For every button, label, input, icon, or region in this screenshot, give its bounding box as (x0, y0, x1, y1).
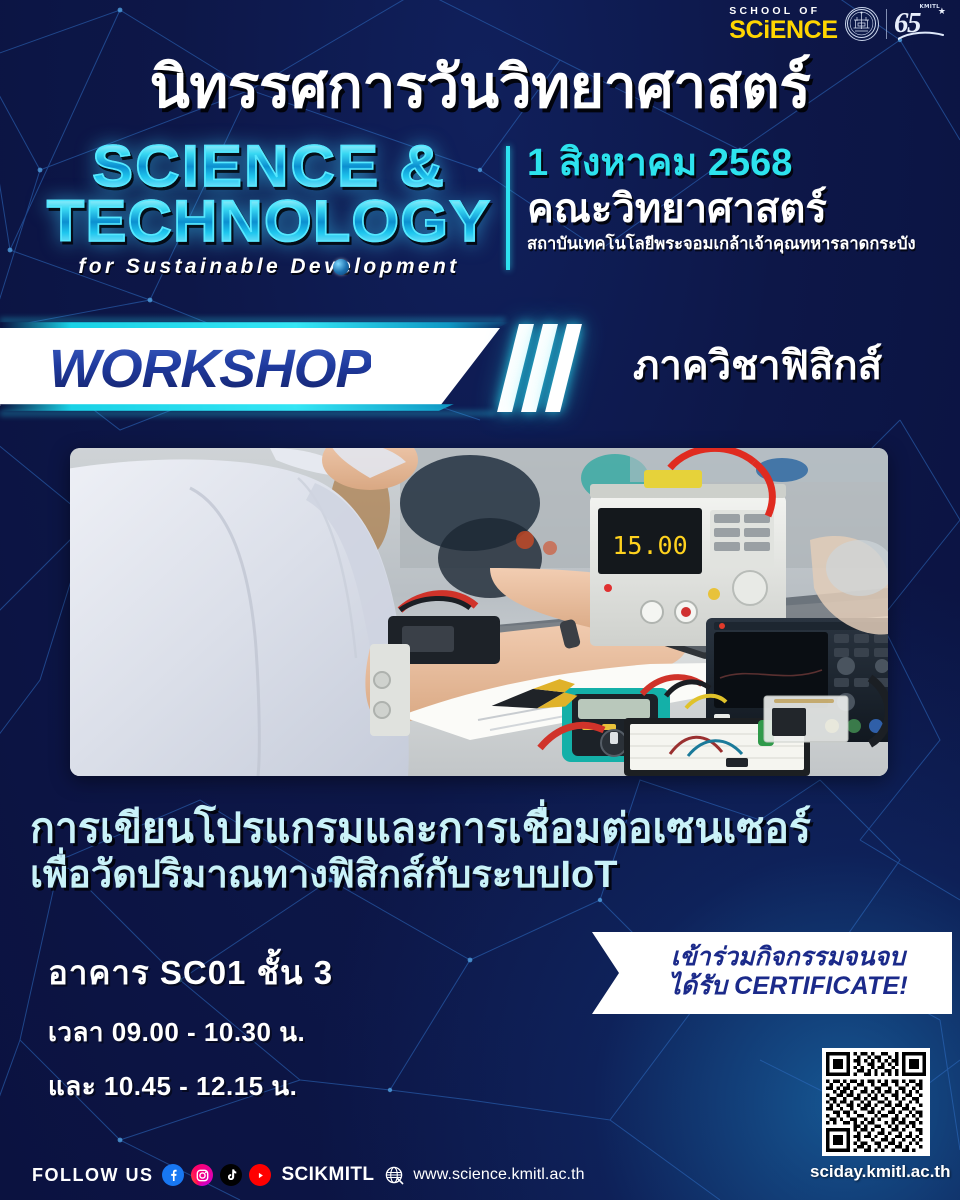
lab-photo: 15.00 (70, 448, 888, 776)
event-details: อาคาร SC01 ชั้น 3 เวลา 09.00 - 10.30 น. … (48, 946, 333, 1107)
globe-icon (333, 259, 349, 275)
school-of-science-wordmark: SCHOOL OF SCiENCE (729, 6, 837, 43)
globe-icon (385, 1166, 404, 1185)
workshop-label: WORKSHOP (49, 338, 371, 400)
band-edge-bottom (0, 404, 510, 411)
instagram-icon[interactable] (191, 1164, 213, 1186)
event-meta: 1 สิงหาคม 2568 คณะวิทยาศาสตร์ สถาบันเทคโ… (527, 142, 957, 255)
theme-tagline-text: for Sustainable Development (78, 255, 459, 278)
theme-tagline: for Sustainable Development (36, 255, 502, 279)
event-date: 1 สิงหาคม 2568 (527, 142, 957, 185)
kmitl-seal-icon (845, 7, 879, 41)
theme-line-1: SCIENCE & (22, 140, 516, 193)
theme-line-2: TECHNOLOGY (22, 195, 516, 248)
theme-logo: SCIENCE & TECHNOLOGY for Sustainable Dev… (36, 140, 502, 279)
venue: อาคาร SC01 ชั้น 3 (48, 946, 333, 999)
department-name: ภาควิชาฟิสิกส์ (560, 346, 955, 386)
school-of-label: SCHOOL OF (729, 6, 820, 17)
faculty-name: คณะวิทยาศาสตร์ (527, 187, 957, 233)
workshop-topic: การเขียนโปรแกรมและการเชื่อมต่อเซนเซอร์ เ… (30, 806, 940, 896)
qr-block[interactable]: sciday.kmitl.ac.th (822, 1048, 960, 1182)
anniversary-tag: KMITL (919, 4, 940, 10)
event-poster: SCHOOL OF SCiENCE KMITL (0, 0, 960, 1200)
footer-social-bar: FOLLOW US SCIKMITL (32, 1164, 585, 1186)
certificate-ribbon: เข้าร่วมกิจกรรมจนจบ ได้รับ CERTIFICATE! (592, 932, 952, 1014)
school-of-science-logo: SCHOOL OF SCiENCE KMITL (729, 6, 946, 43)
star-icon: ★ (938, 7, 946, 17)
band-edge-top (0, 322, 510, 329)
follow-us-label: FOLLOW US (32, 1165, 153, 1186)
vertical-divider (506, 146, 510, 270)
institute-name: สถาบันเทคโนโลยีพระจอมเกล้าเจ้าคุณทหารลาด… (527, 235, 957, 255)
topic-line-1: การเขียนโปรแกรมและการเชื่อมต่อเซนเซอร์ (30, 806, 940, 852)
facebook-icon[interactable] (162, 1164, 184, 1186)
65th-anniversary-icon: KMITL ★ 65 (894, 6, 946, 42)
qr-url-label: sciday.kmitl.ac.th (810, 1162, 950, 1182)
time-slot-1: เวลา 09.00 - 10.30 น. (48, 1012, 333, 1053)
time-slot-2: และ 10.45 - 12.15 น. (48, 1066, 333, 1107)
certificate-text: เข้าร่วมกิจกรรมจนจบ ได้รับ CERTIFICATE! (638, 943, 938, 1001)
workshop-band: WORKSHOP ภาควิชาฟิสิกส์ (0, 318, 960, 416)
youtube-icon[interactable] (249, 1164, 271, 1186)
svg-text:15.00: 15.00 (612, 531, 687, 560)
swoosh-icon (898, 30, 944, 41)
science-wordmark: SCiENCE (729, 18, 837, 43)
topic-line-2: เพื่อวัดปริมาณทางฟิสิกส์กับระบบIoT (30, 854, 940, 897)
band-glow-bottom (0, 411, 495, 416)
page-title: นิทรรศการวันวิทยาศาสตร์ (0, 56, 960, 120)
certificate-line-2: ได้รับ CERTIFICATE! (638, 972, 938, 1001)
social-handle: SCIKMITL (281, 1164, 374, 1186)
certificate-line-1: เข้าร่วมกิจกรรมจนจบ (638, 943, 938, 972)
qr-code[interactable] (822, 1048, 930, 1156)
website-url[interactable]: www.science.kmitl.ac.th (413, 1166, 584, 1184)
tiktok-icon[interactable] (220, 1164, 242, 1186)
logo-divider (886, 9, 887, 39)
